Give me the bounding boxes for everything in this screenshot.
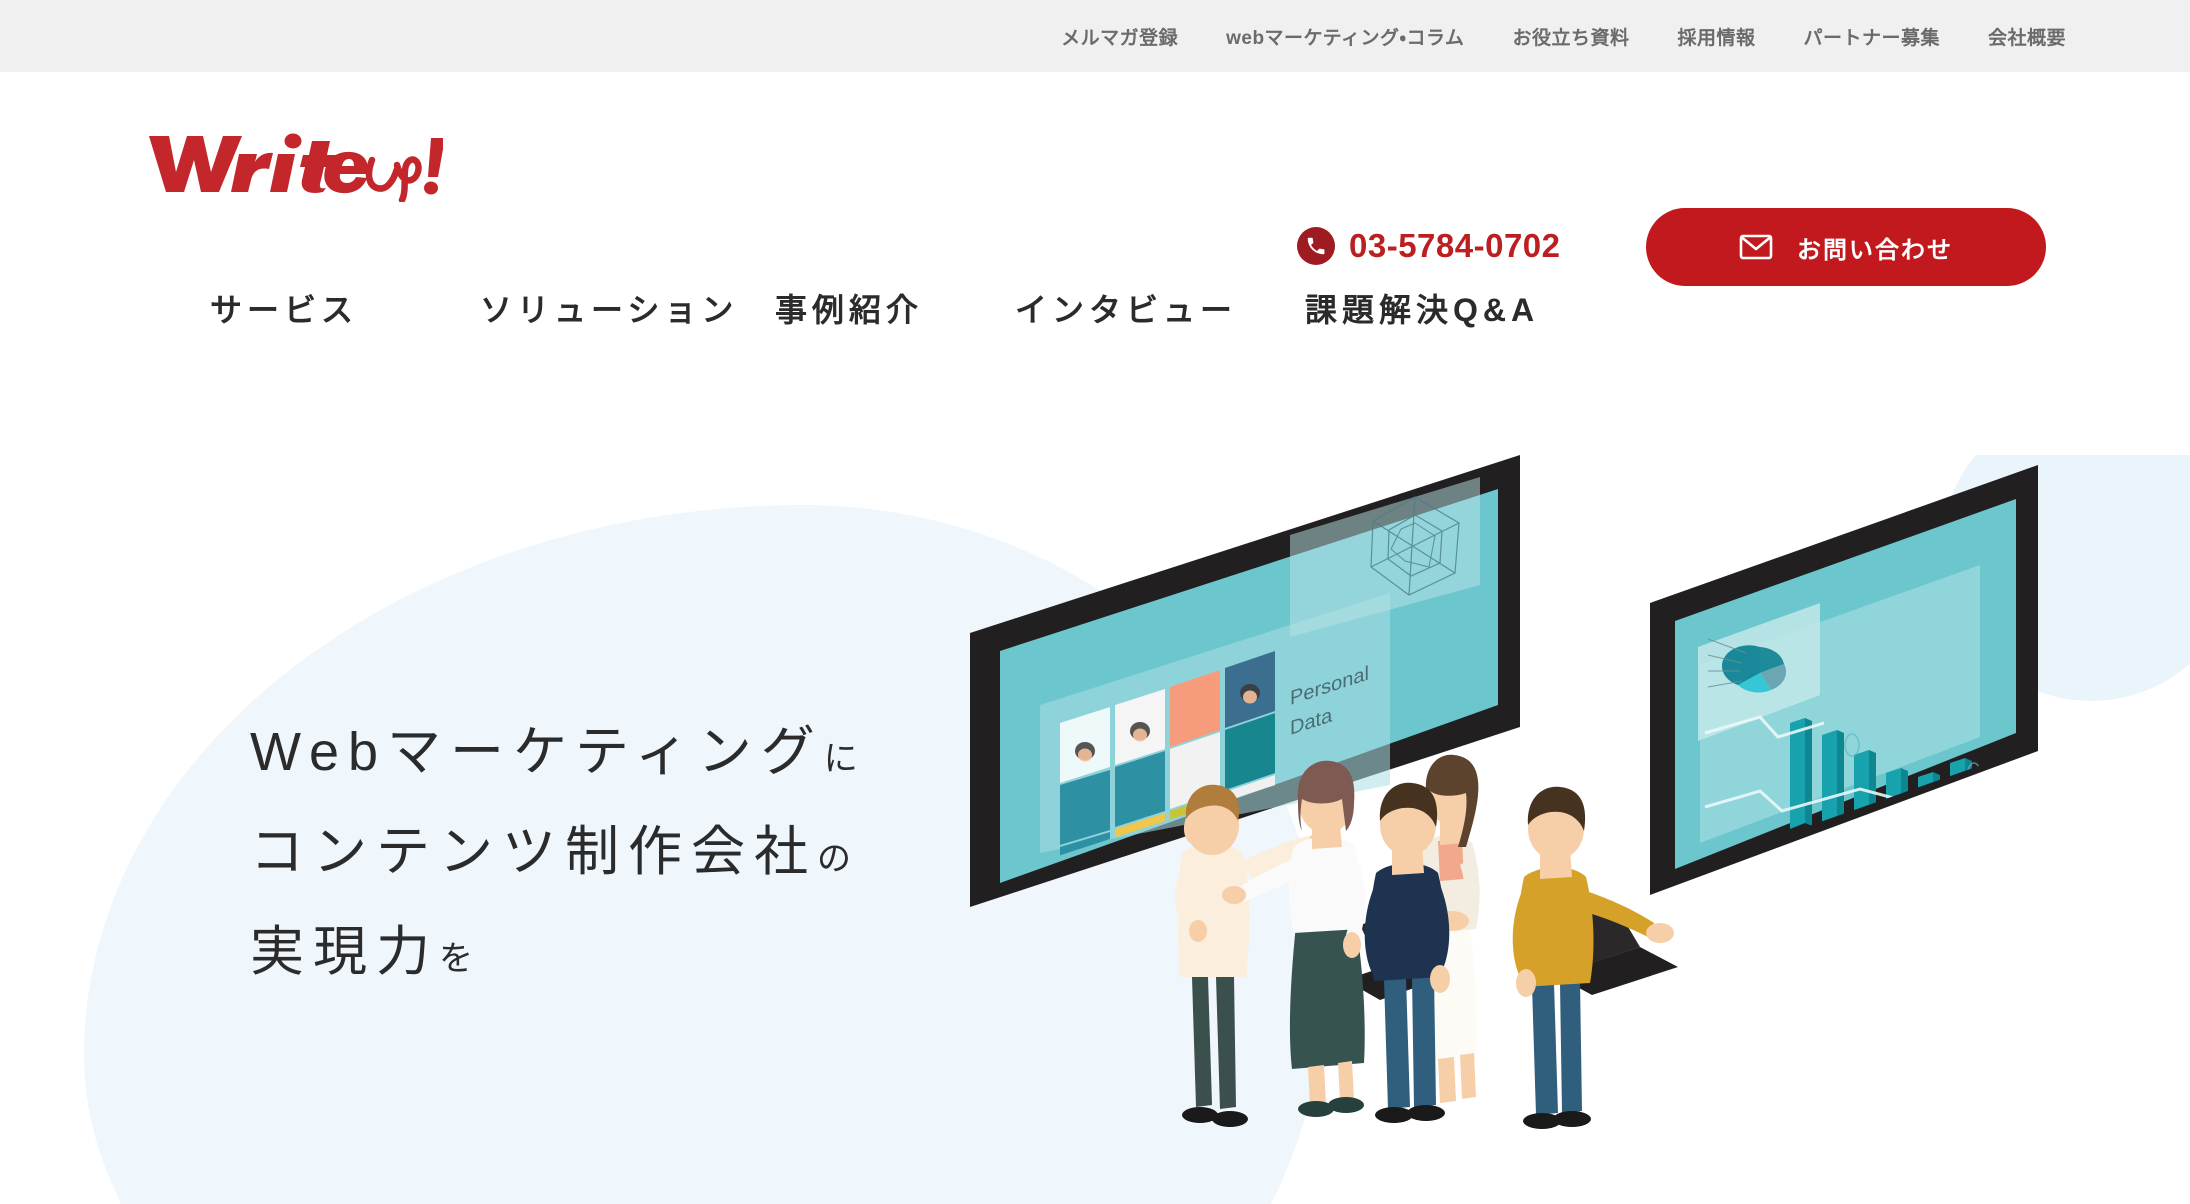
main-navigation: サービス ソリューション 事例紹介 インタビュー 課題解決Q&A xyxy=(0,285,2190,390)
phone-number: 03-5784-0702 xyxy=(1349,227,1561,265)
hero-illustration: Personal Data xyxy=(960,455,2110,1204)
mainnav-item-qa[interactable]: 課題解決Q&A xyxy=(1305,285,1565,331)
top-utility-nav: メルマガ登録 webマーケティング・コラム お役立ち資料 採用情報 パートナー募… xyxy=(1037,23,2090,50)
topbar-link-partner[interactable]: パートナー募集 xyxy=(1779,23,1964,50)
mainnav-item-service[interactable]: サービス xyxy=(210,285,480,331)
phone-icon xyxy=(1297,227,1335,265)
top-utility-bar: メルマガ登録 webマーケティング・コラム お役立ち資料 採用情報 パートナー募… xyxy=(0,0,2190,72)
mainnav-item-solution[interactable]: ソリューション xyxy=(480,285,775,331)
mainnav-item-interview[interactable]: インタビュー xyxy=(1015,285,1305,331)
hero-heading-line-1: Webマーケティングに xyxy=(250,725,861,779)
page-root: メルマガ登録 webマーケティング・コラム お役立ち資料 採用情報 パートナー募… xyxy=(0,0,2190,1204)
hero-line1-main: Webマーケティング xyxy=(250,722,824,782)
hero-line3-particle: を xyxy=(439,940,476,978)
hero-heading: Webマーケティングに コンテンツ制作会社の 実現力を xyxy=(250,725,861,1025)
mail-icon xyxy=(1739,234,1773,260)
site-logo[interactable] xyxy=(143,122,443,202)
hero-line2-main: コンテンツ制作会社 xyxy=(250,822,817,882)
contact-button[interactable]: お問い合わせ xyxy=(1646,208,2046,286)
hero-line1-particle: に xyxy=(824,740,861,778)
site-header: 03-5784-0702 お問い合わせ xyxy=(0,72,2190,212)
person-man-navy xyxy=(1365,783,1450,1123)
hero-heading-line-3: 実現力を xyxy=(250,925,861,979)
topbar-link-newsletter[interactable]: メルマガ登録 xyxy=(1037,23,1202,50)
header-phone[interactable]: 03-5784-0702 xyxy=(1297,227,1561,265)
hero-heading-line-2: コンテンツ制作会社の xyxy=(250,825,861,879)
topbar-link-recruit[interactable]: 採用情報 xyxy=(1653,23,1779,50)
topbar-link-company[interactable]: 会社概要 xyxy=(1964,23,2090,50)
mainnav-item-case-study[interactable]: 事例紹介 xyxy=(775,285,1015,331)
hero-line2-particle: の xyxy=(817,840,854,878)
hero-line3-main: 実現力 xyxy=(250,922,439,982)
topbar-link-column[interactable]: webマーケティング・コラム xyxy=(1202,23,1488,50)
contact-button-label: お問い合わせ xyxy=(1797,230,1953,265)
topbar-link-documents[interactable]: お役立ち資料 xyxy=(1488,23,1653,50)
hero-section: Webマーケティングに コンテンツ制作会社の 実現力を xyxy=(0,455,2190,1204)
